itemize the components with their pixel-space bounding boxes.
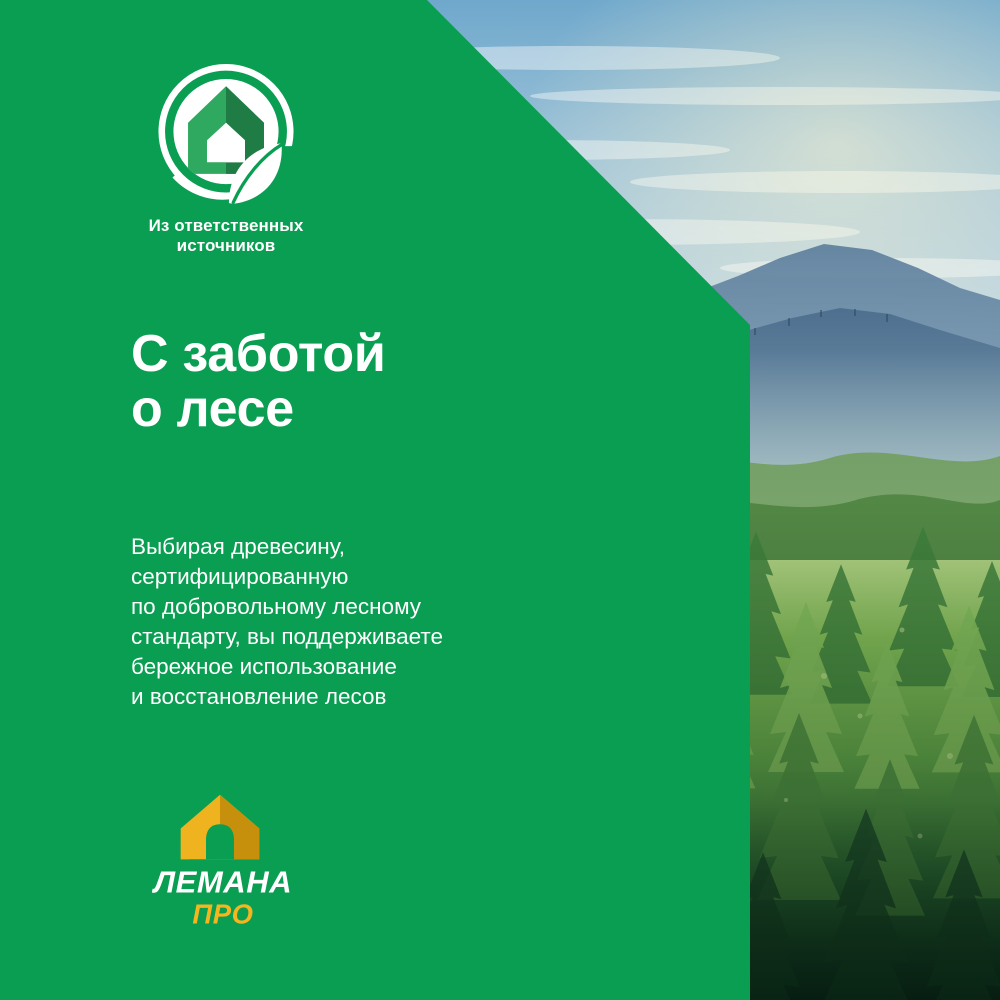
brand-name-primary: ЛЕМАНА: [152, 865, 293, 899]
poster-canvas: Из ответственных источников С заботой о …: [0, 0, 1000, 1000]
certification-badge: Из ответственных источников: [126, 60, 326, 256]
forest-photo: [420, 0, 1000, 1000]
leman-wordmark: ЛЕМАНА ПРО: [133, 865, 313, 927]
brand-name-secondary: ПРО: [192, 898, 253, 927]
badge-caption: Из ответственных источников: [126, 216, 326, 256]
page-title: С заботой о лесе: [131, 327, 385, 437]
leman-house-icon: [178, 793, 262, 861]
body-paragraph: Выбирая древесину, сертифицированную по …: [131, 532, 443, 712]
brand-logo: ЛЕМАНА ПРО: [133, 793, 323, 927]
house-leaf-circle-icon: [153, 60, 299, 206]
